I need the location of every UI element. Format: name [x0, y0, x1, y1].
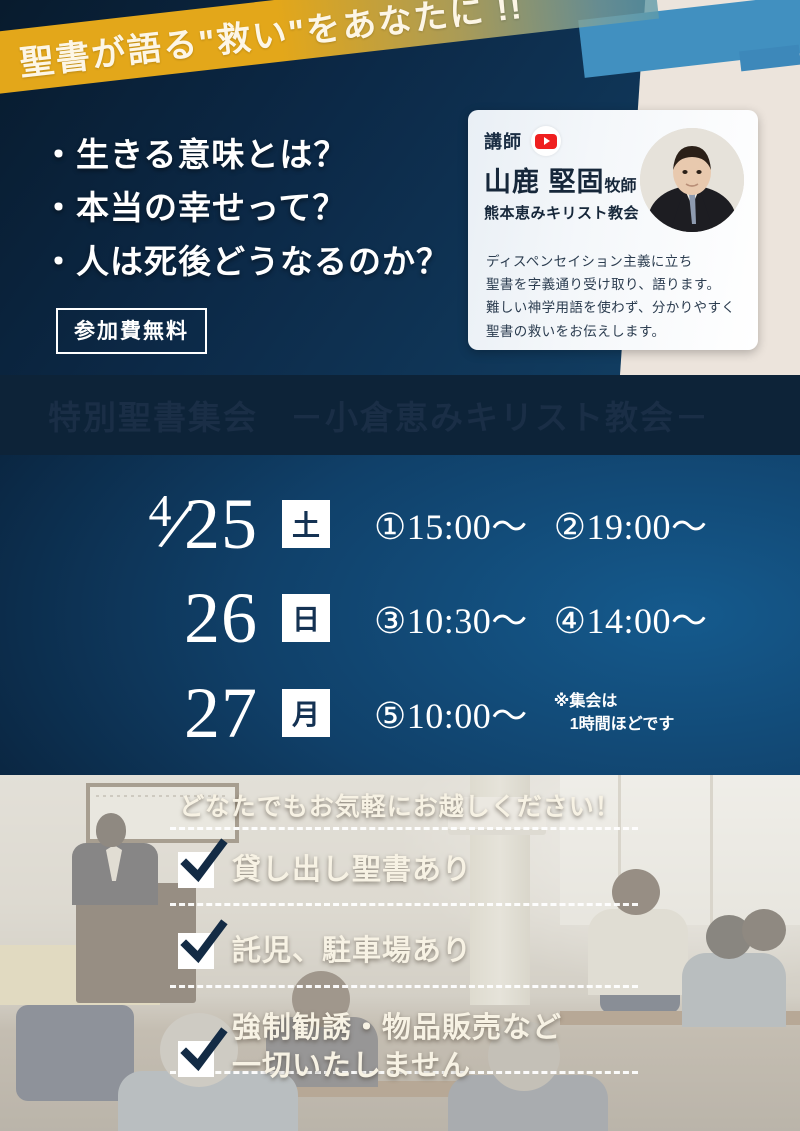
bottom-photo-section: どなたでもお気軽にお越しください！ 貸し出し聖書あり: [0, 775, 800, 1131]
schedule-times: ⑤10:00〜: [374, 687, 528, 739]
info-check-label-line2: 一切いたしません: [232, 1050, 471, 1082]
schedule-times: ①15:00〜 ②19:00〜: [374, 498, 708, 550]
schedule-time-slot: ②19:00〜: [554, 498, 708, 550]
info-check-item: 託児、駐車場あり: [178, 932, 472, 970]
speaker-name: 山鹿 堅固牧師: [484, 160, 659, 199]
schedule-date: 26: [0, 582, 268, 654]
checkmark-icon: [180, 923, 226, 969]
checkbox-checked-icon: [178, 852, 214, 888]
duration-note: ※集会は 1時間ほどです: [554, 690, 675, 736]
title-band-inner: 特別聖書集会 －小倉恵みキリスト教会－: [0, 391, 710, 439]
speaker-description-line: 聖書を字義通り受け取り、語ります。: [486, 273, 735, 296]
welcome-message: どなたでもお気軽にお越しください！: [0, 787, 800, 823]
poster-root: 聖書が語る"救い"をあなたに !! ・生きる意味とは？ ・本当の幸せって？ ・人…: [0, 0, 800, 1131]
youtube-icon[interactable]: [531, 126, 561, 156]
schedule-weekday-badge: 日: [282, 594, 330, 642]
schedule-day: 27: [184, 673, 258, 753]
schedule-row: 4/25 土 ①15:00〜 ②19:00〜: [0, 487, 800, 561]
info-check-label-multiline: 強制勧誘・物品販売など 一切いたしません: [232, 1009, 562, 1086]
youtube-badge: [535, 134, 557, 149]
schedule-time-slot: ①15:00〜: [374, 498, 528, 550]
speaker-card-header: 講師 山鹿 堅固牧師 熊本恵みキリスト教会: [484, 126, 659, 223]
speaker-description-line: 聖書の救いをお伝えします。: [486, 320, 735, 343]
schedule-time-slot: ④14:00〜: [554, 592, 708, 644]
question-item: ・人は死後どうなるのか？: [42, 235, 462, 288]
duration-note-line2: 1時間ほどです: [554, 713, 675, 736]
play-triangle-icon: [544, 137, 550, 145]
schedule-weekday-badge: 土: [282, 500, 330, 548]
speaker-description-line: ディスペンセイション主義に立ち: [486, 250, 735, 273]
free-admission-badge: 参加費無料: [56, 308, 207, 354]
event-host-church: －小倉恵みキリスト教会－: [290, 391, 710, 439]
info-check-label: 貸し出し聖書あり: [232, 851, 472, 889]
bottom-content: どなたでもお気軽にお越しください！ 貸し出し聖書あり: [0, 775, 800, 1131]
event-title: 特別聖書集会: [48, 391, 258, 439]
question-item: ・生きる意味とは？: [42, 128, 462, 181]
info-check-item: 強制勧誘・物品販売など 一切いたしません: [178, 1009, 562, 1086]
schedule-row: 27 月 ⑤10:00〜 ※集会は 1時間ほどです: [0, 677, 800, 749]
info-check-item: 貸し出し聖書あり: [178, 851, 472, 889]
speaker-card: 講師 山鹿 堅固牧師 熊本恵みキリスト教会: [468, 110, 758, 350]
schedule-weekday-badge: 月: [282, 689, 330, 737]
speaker-description: ディスペンセイション主義に立ち 聖書を字義通り受け取り、語ります。 難しい神学用…: [486, 250, 735, 343]
hero-section: 聖書が語る"救い"をあなたに !! ・生きる意味とは？ ・本当の幸せって？ ・人…: [0, 0, 800, 375]
speaker-description-line: 難しい神学用語を使わず、分かりやすく: [486, 296, 735, 319]
schedule-time-slot: ⑤10:00〜: [374, 687, 528, 739]
speaker-name-suffix: 牧師: [605, 178, 637, 195]
divider-dashed: [170, 827, 638, 830]
question-item: ・本当の幸せって？: [42, 181, 462, 234]
checkmark-icon: [180, 842, 226, 888]
checkbox-checked-icon: [178, 1041, 214, 1077]
schedule-date: 4/25: [0, 487, 268, 561]
speaker-role-row: 講師: [484, 126, 659, 156]
question-list: ・生きる意味とは？ ・本当の幸せって？ ・人は死後どうなるのか？: [42, 128, 462, 288]
schedule-times: ③10:30〜 ④14:00〜: [374, 592, 708, 644]
duration-note-line1: ※集会は: [554, 693, 618, 710]
schedule-time-slot: ③10:30〜: [374, 592, 528, 644]
divider-dashed: [170, 985, 638, 988]
speaker-name-text: 山鹿 堅固: [484, 167, 605, 197]
schedule-section: 4/25 土 ①15:00〜 ②19:00〜 26 日 ③10:30〜 ④14:…: [0, 455, 800, 775]
info-check-label: 託児、駐車場あり: [232, 932, 472, 970]
checkmark-icon: [180, 1031, 226, 1077]
speaker-role-label: 講師: [484, 128, 522, 154]
schedule-date: 27: [0, 677, 268, 749]
portrait-illustration: [640, 128, 744, 232]
schedule-row: 26 日 ③10:30〜 ④14:00〜: [0, 582, 800, 654]
info-check-label-line1: 強制勧誘・物品販売など: [232, 1012, 562, 1044]
checkbox-checked-icon: [178, 933, 214, 969]
speaker-church: 熊本恵みキリスト教会: [484, 202, 659, 223]
speaker-portrait: [640, 128, 744, 232]
schedule-day: 26: [184, 578, 258, 658]
title-band: 特別聖書集会 －小倉恵みキリスト教会－: [0, 375, 800, 455]
divider-dashed: [170, 903, 638, 906]
